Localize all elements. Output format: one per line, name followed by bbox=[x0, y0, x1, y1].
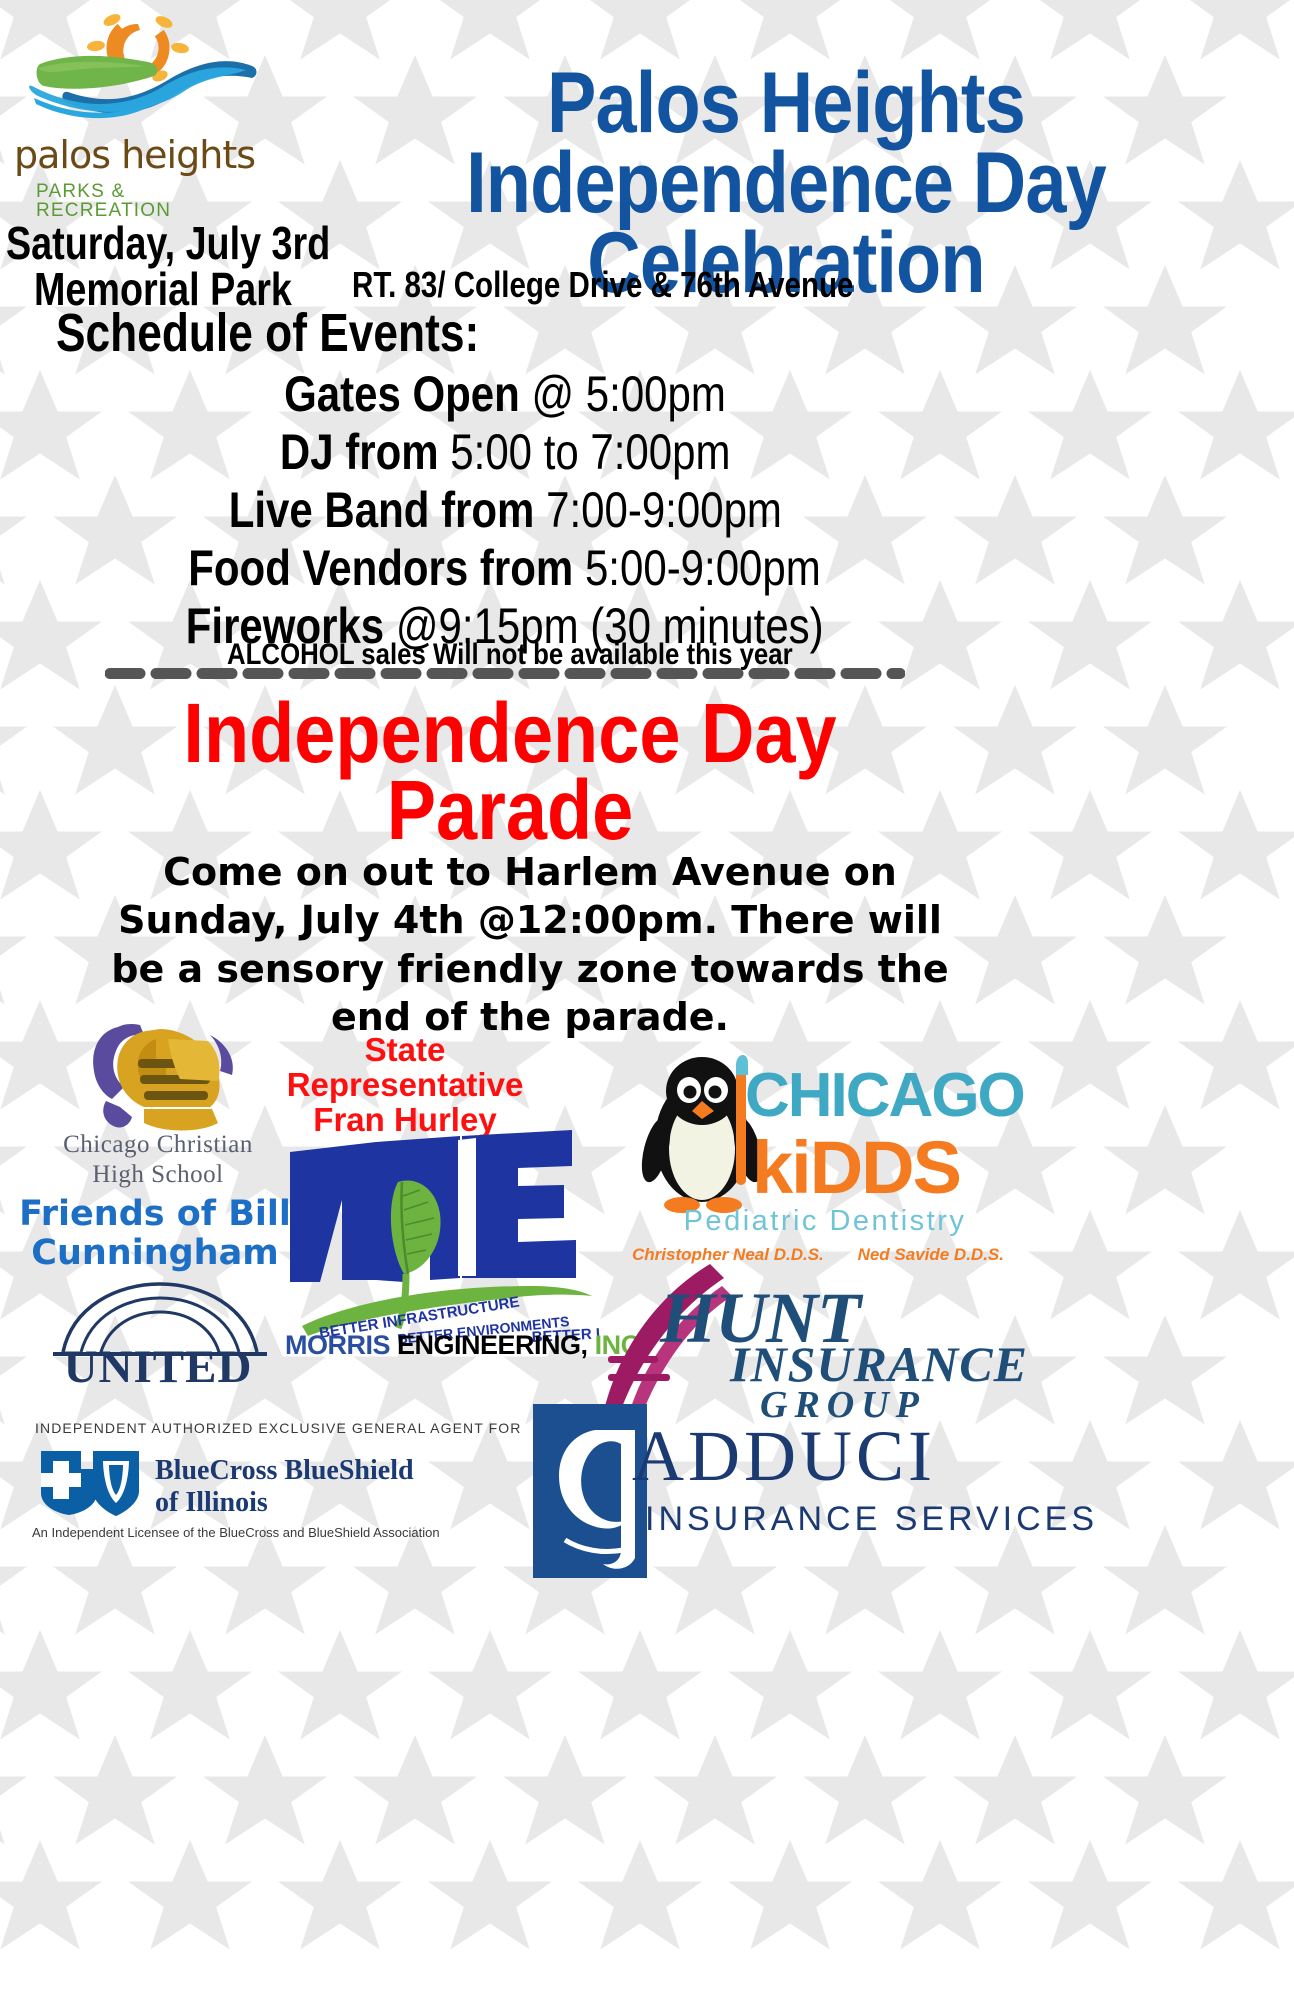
schedule-item-label: Live Band from bbox=[228, 482, 534, 538]
mei-morris: MORRIS bbox=[285, 1330, 390, 1360]
schedule-item-time: 5:00-9:00pm bbox=[585, 540, 821, 596]
friends-of-bill-cunningham-logo: Friends of Bill Cunningham bbox=[10, 1195, 300, 1273]
chicago-christian-line-2: High School bbox=[28, 1160, 288, 1190]
schedule-item-label: Food Vendors from bbox=[189, 540, 574, 596]
title-line-2: Independence Day bbox=[356, 144, 1216, 224]
alcohol-notice-text: ALCOHOL sales Will not be available this… bbox=[227, 638, 793, 672]
logo-subtitle: PARKS & RECREATION bbox=[36, 182, 266, 220]
chicago-kidds-word-2: kiDDS bbox=[752, 1125, 960, 1210]
parade-title: Independence Day Parade bbox=[60, 695, 960, 850]
adduci-wordmark: ADDUCI bbox=[632, 1415, 936, 1498]
adduci-subtitle: INSURANCE SERVICES bbox=[645, 1500, 1098, 1539]
mei-brand-line: MORRIS ENGINEERING, INC. bbox=[285, 1330, 595, 1361]
schedule-item-time: @ 5:00pm bbox=[532, 366, 726, 422]
bcbs-name-line-2: of Illinois bbox=[155, 1487, 414, 1519]
alcohol-notice: ALCOHOL sales Will not be available this… bbox=[0, 638, 1020, 672]
bcbs-fine-print: An Independent Licensee of the BlueCross… bbox=[32, 1525, 440, 1540]
event-address: RT. 83/ College Drive & 76th Avenue bbox=[352, 264, 853, 306]
schedule-item-time: 5:00 to 7:00pm bbox=[450, 424, 730, 480]
palos-heights-parks-rec-logo: palos heights PARKS & RECREATION bbox=[8, 6, 268, 206]
parade-title-line-1: Independence Day bbox=[114, 695, 906, 772]
schedule-list: Gates Open @ 5:00pm DJ from 5:00 to 7:00… bbox=[0, 365, 1010, 655]
bcbs-agent-line: INDEPENDENT AUTHORIZED EXCLUSIVE GENERAL… bbox=[35, 1420, 522, 1436]
chicago-kidds-tagline: Pediatric Dentistry bbox=[650, 1205, 1000, 1238]
schedule-item: Food Vendors from 5:00-9:00pm bbox=[0, 539, 1010, 597]
logo-wordmark: palos heights bbox=[14, 136, 264, 174]
schedule-heading: Schedule of Events: bbox=[56, 302, 479, 364]
fobc-line-2: Cunningham bbox=[10, 1234, 300, 1273]
state-representative-logo: State Representative Fran Hurley bbox=[250, 1033, 560, 1138]
schedule-item-time: 7:00-9:00pm bbox=[546, 482, 782, 538]
green-brush-icon bbox=[37, 56, 158, 89]
chicago-christian-line-1: Chicago Christian bbox=[28, 1130, 288, 1160]
fobc-line-1: Friends of Bill bbox=[10, 1195, 300, 1234]
knight-helmet-icon bbox=[60, 1015, 250, 1140]
schedule-item: Live Band from 7:00-9:00pm bbox=[0, 481, 1010, 539]
schedule-item-label: Gates Open bbox=[284, 366, 520, 422]
mei-engineering: ENGINEERING, bbox=[397, 1330, 588, 1360]
schedule-item: DJ from 5:00 to 7:00pm bbox=[0, 423, 1010, 481]
chicago-christian-name: Chicago Christian High School bbox=[28, 1130, 288, 1189]
schedule-item: Gates Open @ 5:00pm bbox=[0, 365, 1010, 423]
sponsor-logos: Chicago Christian High School Friends of… bbox=[0, 1005, 1294, 2000]
chicago-kidds-doctor-2: Ned Savide D.D.S. bbox=[858, 1245, 1004, 1265]
bcbs-wordmark: BlueCross BlueShield of Illinois bbox=[155, 1455, 414, 1519]
title-line-1: Palos Heights bbox=[356, 64, 1216, 144]
logo-mark bbox=[8, 6, 268, 146]
bcbs-cross-shield-icon bbox=[35, 1447, 150, 1519]
dashed-divider bbox=[105, 668, 905, 679]
state-rep-line-1: State bbox=[250, 1033, 560, 1068]
state-rep-line-2: Representative bbox=[250, 1068, 560, 1103]
chicago-kidds-word-1: CHICAGO bbox=[745, 1060, 1024, 1131]
bcbs-name-line-1: BlueCross BlueShield bbox=[155, 1455, 414, 1487]
parade-title-line-2: Parade bbox=[114, 772, 906, 849]
united-wordmark: UNITED bbox=[48, 1340, 268, 1394]
schedule-item-label: DJ from bbox=[280, 424, 439, 480]
mei-logo-icon: BETTER INFRASTRUCTURE BETTER ENVIRONMENT… bbox=[280, 1130, 600, 1345]
